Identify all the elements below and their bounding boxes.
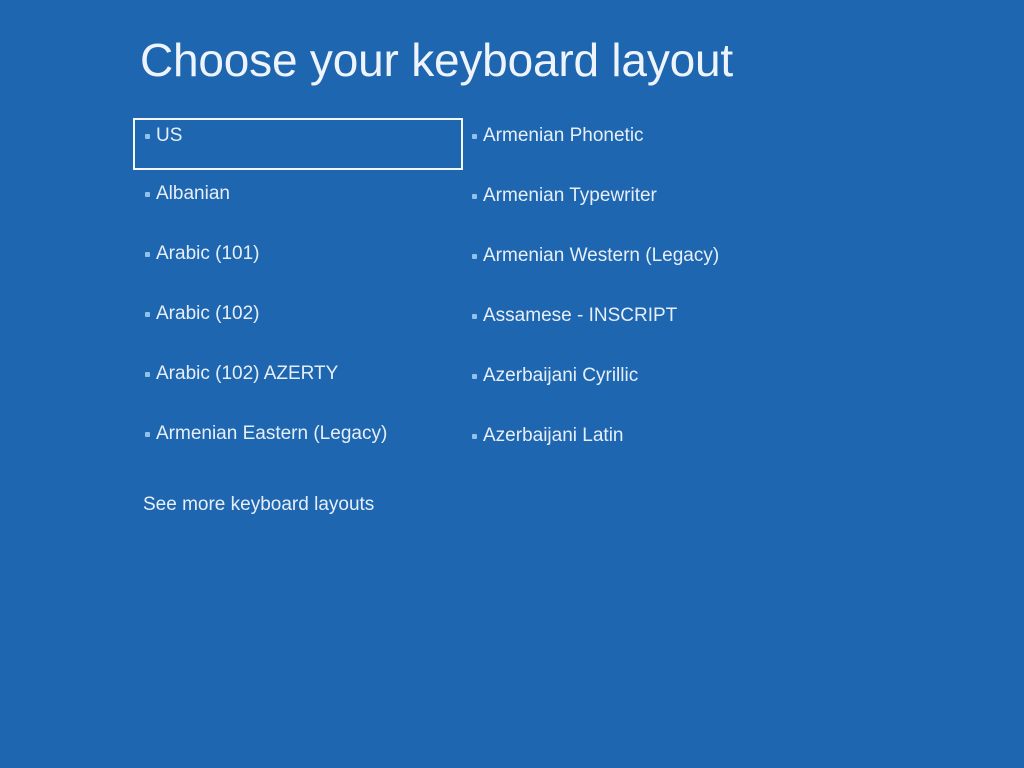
keyboard-layout-item-label: Azerbaijani Cyrillic bbox=[483, 358, 638, 385]
bullet-icon bbox=[472, 434, 477, 439]
bullet-icon bbox=[472, 194, 477, 199]
keyboard-layout-item[interactable]: Azerbaijani Cyrillic bbox=[460, 358, 880, 418]
keyboard-layout-item[interactable]: Armenian Typewriter bbox=[460, 178, 880, 238]
keyboard-layout-item[interactable]: Arabic (101) bbox=[133, 236, 463, 296]
bullet-icon bbox=[145, 372, 150, 377]
keyboard-layout-item[interactable]: Arabic (102) AZERTY bbox=[133, 356, 463, 416]
keyboard-layout-item[interactable]: Assamese - INSCRIPT bbox=[460, 298, 880, 358]
keyboard-layout-item[interactable]: Armenian Eastern (Legacy) bbox=[133, 416, 463, 476]
keyboard-layout-item-label: Assamese - INSCRIPT bbox=[483, 298, 677, 325]
keyboard-layout-list: USAlbanianArabic (101)Arabic (102)Arabic… bbox=[0, 0, 1024, 768]
bullet-icon bbox=[145, 134, 150, 139]
bullet-icon bbox=[145, 432, 150, 437]
see-more-keyboard-layouts-link[interactable]: See more keyboard layouts bbox=[141, 493, 376, 516]
bullet-icon bbox=[145, 192, 150, 197]
keyboard-layout-item[interactable]: US bbox=[133, 118, 463, 170]
keyboard-layout-item[interactable]: Armenian Western (Legacy) bbox=[460, 238, 880, 298]
keyboard-layout-item-label: Armenian Western (Legacy) bbox=[483, 238, 719, 265]
bullet-icon bbox=[145, 312, 150, 317]
keyboard-layout-item-label: Armenian Typewriter bbox=[483, 178, 657, 205]
keyboard-layout-column-left: USAlbanianArabic (101)Arabic (102)Arabic… bbox=[133, 118, 463, 476]
keyboard-layout-item-label: Arabic (102) bbox=[156, 296, 260, 323]
keyboard-layout-item[interactable]: Arabic (102) bbox=[133, 296, 463, 356]
bullet-icon bbox=[472, 314, 477, 319]
bullet-icon bbox=[472, 374, 477, 379]
keyboard-layout-item-label: Albanian bbox=[156, 176, 230, 203]
keyboard-layout-screen: Choose your keyboard layout USAlbanianAr… bbox=[0, 0, 1024, 768]
bullet-icon bbox=[472, 254, 477, 259]
keyboard-layout-item[interactable]: Azerbaijani Latin bbox=[460, 418, 880, 478]
keyboard-layout-item-label: Armenian Eastern (Legacy) bbox=[156, 416, 387, 443]
keyboard-layout-item-label: Azerbaijani Latin bbox=[483, 418, 623, 445]
keyboard-layout-item-label: Armenian Phonetic bbox=[483, 118, 644, 145]
keyboard-layout-item[interactable]: Albanian bbox=[133, 176, 463, 236]
keyboard-layout-item-label: Arabic (102) AZERTY bbox=[156, 356, 338, 383]
keyboard-layout-column-right: Armenian PhoneticArmenian TypewriterArme… bbox=[460, 118, 880, 478]
bullet-icon bbox=[145, 252, 150, 257]
keyboard-layout-item-label: US bbox=[156, 120, 182, 145]
bullet-icon bbox=[472, 134, 477, 139]
keyboard-layout-item-label: Arabic (101) bbox=[156, 236, 260, 263]
keyboard-layout-item[interactable]: Armenian Phonetic bbox=[460, 118, 880, 178]
